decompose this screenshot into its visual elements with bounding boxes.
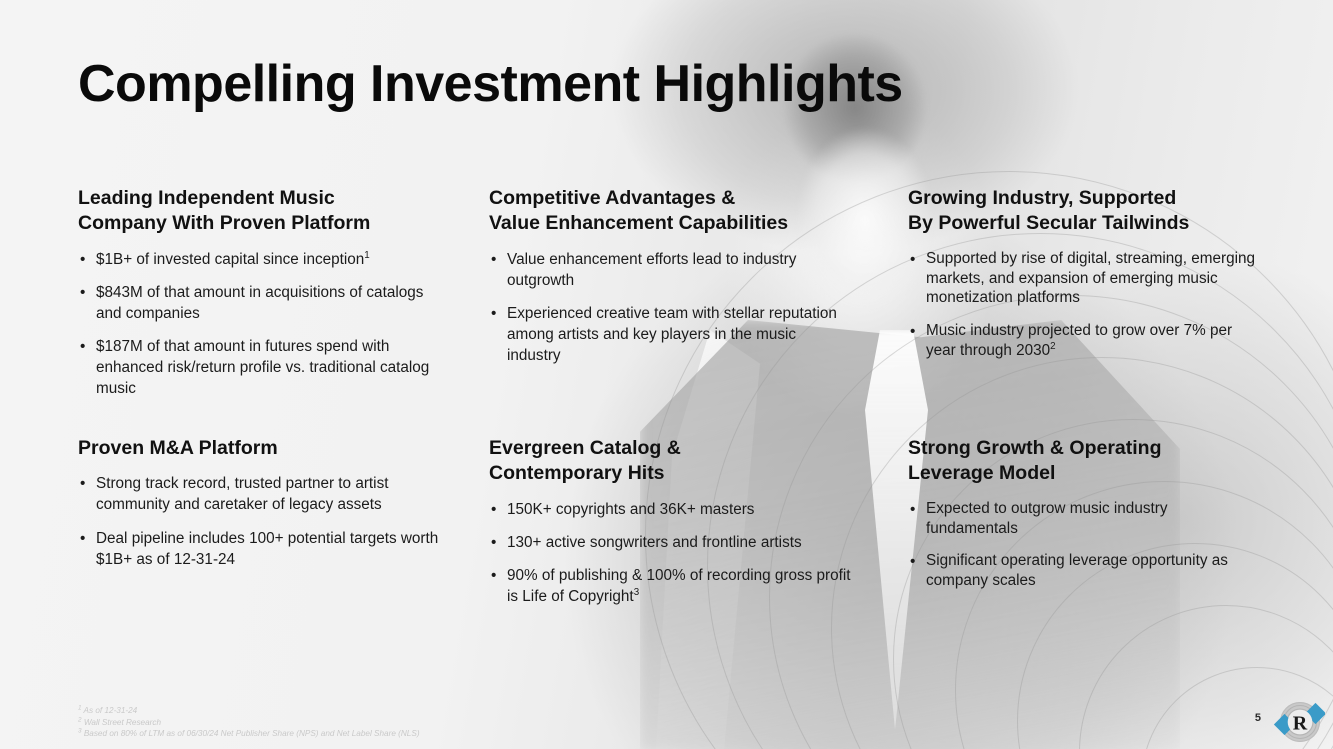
block-heading: Strong Growth & Operating Leverage Model bbox=[908, 436, 1258, 487]
list-item-text: 150K+ copyrights and 36K+ masters bbox=[507, 501, 754, 518]
list-item-text: Expected to outgrow music industry funda… bbox=[926, 500, 1167, 537]
bullet-icon: • bbox=[491, 303, 496, 324]
list-item-text: Supported by rise of digital, streaming,… bbox=[926, 250, 1255, 307]
bullet-icon: • bbox=[910, 551, 915, 572]
block-heading: Evergreen Catalog & Contemporary Hits bbox=[489, 436, 859, 487]
list-item-text: Strong track record, trusted partner to … bbox=[96, 475, 388, 513]
list-item-text: Value enhancement efforts lead to indust… bbox=[507, 251, 796, 289]
reservoir-logo: R bbox=[1271, 697, 1325, 747]
bullet-list: •Expected to outgrow music industry fund… bbox=[908, 499, 1258, 592]
footnote-item: 2 Wall Street Research bbox=[78, 717, 420, 729]
block-heading-line2: Value Enhancement Capabilities bbox=[489, 212, 788, 234]
block-heading-line1: Competitive Advantages & bbox=[489, 187, 735, 209]
bullet-icon: • bbox=[80, 249, 85, 270]
list-item: •Experienced creative team with stellar … bbox=[489, 303, 849, 366]
list-item: •Significant operating leverage opportun… bbox=[908, 551, 1258, 591]
page-title: Compelling Investment Highlights bbox=[78, 54, 903, 114]
list-item: •$843M of that amount in acquisitions of… bbox=[78, 282, 438, 324]
block-heading-line2: Leverage Model bbox=[908, 462, 1055, 484]
list-item-text: Music industry projected to grow over 7%… bbox=[926, 322, 1232, 359]
bullet-list: •Value enhancement efforts lead to indus… bbox=[489, 249, 849, 367]
block-heading-line2: Company With Proven Platform bbox=[78, 212, 370, 234]
bullet-list: •Strong track record, trusted partner to… bbox=[78, 473, 448, 569]
list-item: •$1B+ of invested capital since inceptio… bbox=[78, 249, 438, 270]
bullet-icon: • bbox=[80, 282, 85, 303]
footnote-item: 3 Based on 80% of LTM as of 06/30/24 Net… bbox=[78, 728, 420, 740]
bullet-icon: • bbox=[491, 249, 496, 270]
block-heading-line2: By Powerful Secular Tailwinds bbox=[908, 212, 1189, 234]
block-growing-industry: Growing Industry, Supported By Powerful … bbox=[908, 186, 1258, 374]
block-competitive-advantages: Competitive Advantages & Value Enhanceme… bbox=[489, 186, 849, 366]
bullet-icon: • bbox=[491, 565, 496, 586]
list-item: •Value enhancement efforts lead to indus… bbox=[489, 249, 849, 291]
bullet-list: •150K+ copyrights and 36K+ masters •130+… bbox=[489, 499, 859, 607]
block-heading-line1: Leading Independent Music bbox=[78, 187, 335, 209]
block-heading: Growing Industry, Supported By Powerful … bbox=[908, 186, 1258, 237]
list-item: •Music industry projected to grow over 7… bbox=[908, 321, 1258, 361]
block-heading-line1: Growing Industry, Supported bbox=[908, 187, 1176, 209]
footnote-text: Based on 80% of LTM as of 06/30/24 Net P… bbox=[84, 729, 420, 738]
footnote-text: As of 12-31-24 bbox=[84, 706, 138, 715]
bullet-icon: • bbox=[80, 336, 85, 357]
list-item: •90% of publishing & 100% of recording g… bbox=[489, 565, 859, 607]
bullet-icon: • bbox=[491, 532, 496, 553]
page-number: 5 bbox=[1255, 712, 1261, 724]
block-proven-m-and-a-platform: Proven M&A Platform •Strong track record… bbox=[78, 436, 448, 570]
footnote-marker: 3 bbox=[634, 587, 639, 598]
bullet-list: •$1B+ of invested capital since inceptio… bbox=[78, 249, 438, 400]
block-heading: Competitive Advantages & Value Enhanceme… bbox=[489, 186, 849, 237]
list-item-text: Deal pipeline includes 100+ potential ta… bbox=[96, 530, 438, 568]
bullet-icon: • bbox=[910, 249, 915, 270]
footnote-marker: 1 bbox=[78, 704, 82, 711]
footnote-item: 1 As of 12-31-24 bbox=[78, 705, 420, 717]
list-item-text: Significant operating leverage opportuni… bbox=[926, 552, 1228, 589]
list-item: •Expected to outgrow music industry fund… bbox=[908, 499, 1258, 539]
list-item: •Strong track record, trusted partner to… bbox=[78, 473, 448, 515]
block-heading-line1: Evergreen Catalog & bbox=[489, 437, 681, 459]
block-heading: Leading Independent Music Company With P… bbox=[78, 186, 438, 237]
block-strong-growth-operating-leverage: Strong Growth & Operating Leverage Model… bbox=[908, 436, 1258, 604]
bullet-icon: • bbox=[910, 321, 915, 342]
footnotes: 1 As of 12-31-24 2 Wall Street Research … bbox=[78, 705, 420, 740]
bullet-icon: • bbox=[491, 499, 496, 520]
list-item: •150K+ copyrights and 36K+ masters bbox=[489, 499, 859, 520]
svg-text:R: R bbox=[1293, 713, 1308, 735]
bullet-icon: • bbox=[80, 473, 85, 494]
footnote-marker: 1 bbox=[364, 250, 369, 261]
footnote-marker: 2 bbox=[78, 716, 82, 723]
list-item: •Supported by rise of digital, streaming… bbox=[908, 249, 1258, 309]
list-item-text: $187M of that amount in futures spend wi… bbox=[96, 338, 429, 397]
list-item-text: Experienced creative team with stellar r… bbox=[507, 305, 837, 364]
block-heading-line1: Proven M&A Platform bbox=[78, 437, 278, 459]
slide-canvas: Compelling Investment Highlights Leading… bbox=[0, 0, 1333, 749]
list-item-text: 130+ active songwriters and frontline ar… bbox=[507, 534, 802, 551]
block-heading-line1: Strong Growth & Operating bbox=[908, 437, 1162, 459]
bullet-list: •Supported by rise of digital, streaming… bbox=[908, 249, 1258, 361]
footnote-marker: 2 bbox=[1050, 341, 1055, 352]
list-item: •$187M of that amount in futures spend w… bbox=[78, 336, 438, 399]
block-evergreen-catalog: Evergreen Catalog & Contemporary Hits •1… bbox=[489, 436, 859, 607]
block-heading: Proven M&A Platform bbox=[78, 436, 448, 461]
list-item-text: 90% of publishing & 100% of recording gr… bbox=[507, 567, 851, 605]
list-item: •Deal pipeline includes 100+ potential t… bbox=[78, 528, 448, 570]
list-item-text: $1B+ of invested capital since inception bbox=[96, 251, 364, 268]
bullet-icon: • bbox=[80, 528, 85, 549]
block-heading-line2: Contemporary Hits bbox=[489, 462, 665, 484]
block-leading-independent-music-company: Leading Independent Music Company With P… bbox=[78, 186, 438, 399]
footnote-marker: 3 bbox=[78, 728, 82, 735]
list-item-text: $843M of that amount in acquisitions of … bbox=[96, 284, 423, 322]
bullet-icon: • bbox=[910, 499, 915, 520]
footnote-text: Wall Street Research bbox=[84, 718, 161, 727]
list-item: •130+ active songwriters and frontline a… bbox=[489, 532, 859, 553]
